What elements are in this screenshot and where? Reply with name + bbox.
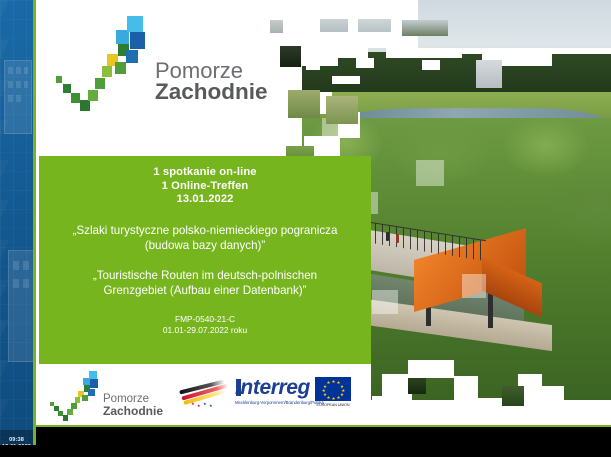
footer-brand-line2: Zachodnie xyxy=(103,405,163,417)
interreg-programme-subtitle: Mecklenburg-Vorpommern/Brandenburg/Polsk… xyxy=(235,400,324,405)
photo-chip-5 xyxy=(280,46,301,67)
germany-flag-wave-icon: ★ ★ ★ ★ xyxy=(179,377,239,411)
brand-name-line2: Zachodnie xyxy=(155,81,268,103)
green-info-panel: 1 spotkanie on-line 1 Online-Treffen 13.… xyxy=(39,156,371,364)
european-union-flag-icon: ★ ★ ★ ★ ★ ★ ★ ★ ★ ★ ★ ★ xyxy=(315,377,351,401)
deck-visitor-5 xyxy=(386,232,389,241)
mosaic-tile-b1 xyxy=(408,360,454,378)
project-title-pl-line2: (budowa bazy danych)” xyxy=(49,238,361,254)
sponsor-logo-bar: Pomorze Zachodnie ★ ★ ★ ★ Interreg Mec xyxy=(39,364,371,425)
mosaic-tile-w2 xyxy=(306,58,320,70)
photo-chip-3 xyxy=(358,19,391,32)
pomorze-zachodnie-checkmark-mosaic-logo xyxy=(54,14,158,114)
mosaic-tile-p7 xyxy=(372,290,398,314)
photo-chip-2 xyxy=(320,19,348,32)
mosaic-tile-b3 xyxy=(454,376,478,426)
mosaic-tile-p4 xyxy=(416,160,444,186)
european-union-logo: ★ ★ ★ ★ ★ ★ ★ ★ ★ ★ ★ ★ EUROPEAN UNION xyxy=(315,377,355,411)
mosaic-tile-w5 xyxy=(332,76,360,84)
pomorze-zachodnie-checkmark-mosaic-logo-small xyxy=(49,370,105,422)
meeting-heading-de: 1 Online-Treffen xyxy=(49,180,361,194)
project-title-de-line2: Grenzgebiet (Aufbau einer Datenbank)” xyxy=(49,283,361,299)
photo-chip-8 xyxy=(476,60,502,88)
presentation-slide: Pomorze Zachodnie 1 spotkanie on-line 1 … xyxy=(33,0,611,437)
brand-logo-header: Pomorze Zachodnie xyxy=(54,14,240,114)
project-title-de-line1: „Touristische Routen im deutsch-polnisch… xyxy=(49,268,361,284)
photo-chip-7 xyxy=(326,96,358,124)
screen-bottom-bar xyxy=(0,445,611,457)
wallpaper-building-1 xyxy=(4,60,32,134)
mosaic-tile-b6 xyxy=(542,386,564,426)
mosaic-tile-b7 xyxy=(372,396,386,426)
project-title-pl-line1: „Szlaki turystyczne polsko-niemieckiego … xyxy=(49,223,361,239)
meeting-date: 13.01.2022 xyxy=(49,193,361,207)
european-union-caption: EUROPEAN UNION xyxy=(315,403,351,407)
deck-visitor-6 xyxy=(396,234,399,243)
project-code: FMP-0540-21-C xyxy=(49,314,361,326)
screen: 09:38 13.01.2022 xyxy=(0,0,611,457)
slide-bottom-bar xyxy=(33,425,611,447)
photo-mask-step-4 xyxy=(338,48,368,58)
photo-chip-b1 xyxy=(502,386,524,406)
brand-logo-footer: Pomorze Zachodnie xyxy=(49,370,173,422)
photo-mask-step-5 xyxy=(386,48,462,58)
project-period: 01.01-29.07.2022 roku xyxy=(49,325,361,337)
photo-chip-1 xyxy=(270,20,283,33)
mosaic-tile-w4 xyxy=(422,60,440,70)
mosaic-tile-w3 xyxy=(356,58,374,68)
meeting-heading-pl: 1 spotkanie on-line xyxy=(49,166,361,180)
photo-chip-b2 xyxy=(408,378,426,394)
interreg-wordmark: Interreg xyxy=(235,377,310,398)
photo-chip-4 xyxy=(402,20,448,36)
mosaic-tile-p6 xyxy=(462,274,486,298)
clock-time: 09:38 xyxy=(9,437,24,444)
photo-chip-6 xyxy=(288,90,320,118)
